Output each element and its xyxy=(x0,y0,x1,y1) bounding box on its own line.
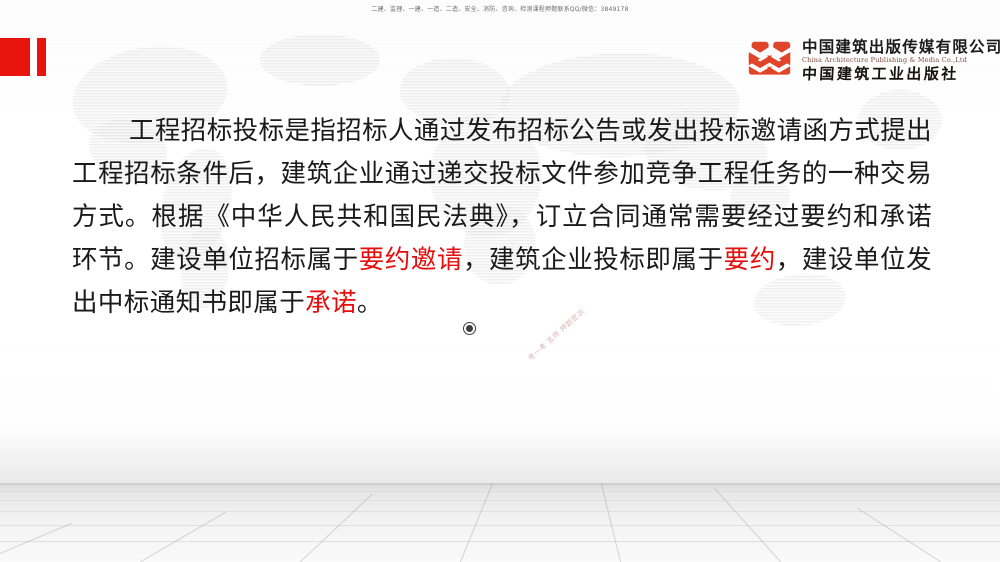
paragraph-highlight-term: 要约 xyxy=(724,245,776,275)
paragraph-highlight-term: 要约邀请 xyxy=(359,245,463,275)
floor-grid-line-horizontal xyxy=(0,500,1000,501)
floor-grid-line-vertical xyxy=(857,508,941,562)
floor-horizon-line xyxy=(0,483,1000,486)
floor-grid-line-vertical xyxy=(460,483,498,562)
floor-grid-line-horizontal xyxy=(0,541,1000,542)
floor-grid-line-horizontal xyxy=(0,511,1000,512)
floor-grid-line-vertical xyxy=(0,523,72,562)
publisher-logo: 中国建筑出版传媒有限公司 China Architecture Publishi… xyxy=(746,30,986,92)
paragraph-text-run: 。 xyxy=(357,288,383,318)
paragraph-text-run: ，建筑企业投标即属于 xyxy=(463,245,724,275)
floor-grid-line-horizontal xyxy=(0,525,1000,526)
publisher-logo-text: 中国建筑出版传媒有限公司 China Architecture Publishi… xyxy=(802,38,1000,84)
paragraph-highlight-term: 承诺 xyxy=(305,288,357,318)
accent-bar-marker xyxy=(37,38,46,76)
floor-grid-line-vertical xyxy=(597,483,621,562)
floor-grid-line-horizontal xyxy=(0,491,1000,492)
slide-body-paragraph: 工程招标投标是指招标人通过发布招标公告或发出投标邀请函方式提出工程招标条件后，建… xyxy=(72,110,932,325)
floor-grid-line-vertical xyxy=(300,494,373,562)
slide-canvas: 二建、监理、一建、一造、二造、安全、消防、咨询、检测课程押题联系QQ/微信：38… xyxy=(0,0,1000,562)
accent-square-marker xyxy=(0,38,30,76)
publisher-company-name-cn: 中国建筑出版传媒有限公司 xyxy=(802,38,1000,56)
publisher-company-name-en: China Architecture Publishing & Media Co… xyxy=(802,56,1000,65)
floor-grid-line-vertical xyxy=(140,512,226,562)
promo-text-top: 二建、监理、一建、一造、二造、安全、消防、咨询、检测课程押题联系QQ/微信：38… xyxy=(0,5,1000,14)
publisher-imprint-name-cn: 中国建筑工业出版社 xyxy=(802,65,1000,84)
wall-gradient-band xyxy=(0,430,1000,483)
open-book-logo-icon xyxy=(746,38,793,85)
perspective-floor xyxy=(0,483,1000,562)
watermark-dot-icon xyxy=(466,325,473,332)
